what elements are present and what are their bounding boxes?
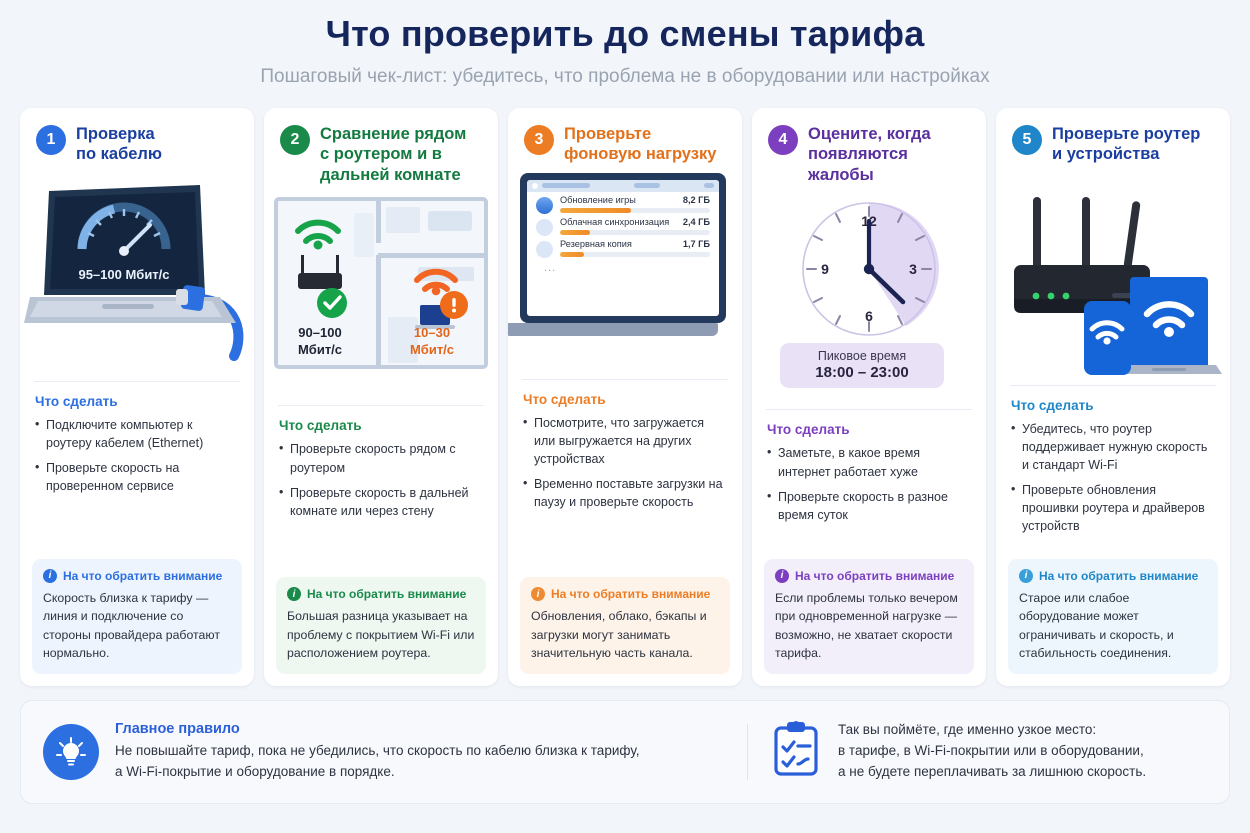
- card-4-illustration: 12 3 6 9 Пиковое время 18:00 – 23:00: [752, 199, 986, 395]
- todo-item: Посмотрите, что загружается или выгружае…: [523, 414, 727, 468]
- card-3-title: Проверьте фоновую нагрузку: [564, 124, 716, 165]
- todo-heading-3: Что сделать: [523, 392, 727, 407]
- note-heading-1: На что обратить внимание: [63, 569, 222, 583]
- card-4-title: Оцените, когда появляются жалобы: [808, 124, 970, 186]
- card-1-title: Проверка по кабелю: [76, 124, 162, 165]
- card-1-todo: Что сделать Подключите компьютер к роуте…: [20, 382, 254, 503]
- todo-item: Проверьте скорость на проверенном сервис…: [35, 459, 239, 495]
- todo-item: Убедитесь, что роутер поддерживает нужну…: [1011, 420, 1215, 474]
- info-icon: i: [1019, 569, 1033, 583]
- checklist-cards: 1 Проверка по кабелю: [20, 108, 1230, 686]
- card-5-illustration: [996, 175, 1230, 375]
- card-4-header: 4 Оцените, когда появляются жалобы: [752, 108, 986, 186]
- info-icon: i: [43, 569, 57, 583]
- footer-summary: Главное правило Не повышайте тариф, пока…: [20, 700, 1230, 804]
- todo-item: Подключите компьютер к роутеру кабелем (…: [35, 416, 239, 452]
- card-4-note: i На что обратить внимание Если проблемы…: [764, 559, 974, 674]
- info-icon: i: [531, 587, 545, 601]
- card-3-header: 3 Проверьте фоновую нагрузку: [508, 108, 742, 165]
- card-2-header: 2 Сравнение рядом с роутером и в дальней…: [264, 108, 498, 186]
- card-step-5[interactable]: 5 Проверьте роутер и устройства: [996, 108, 1230, 686]
- download-progress-fill: [560, 208, 631, 213]
- download-item: Резервная копия 1,7 ГБ: [527, 236, 719, 258]
- clock-tick-9: 9: [821, 261, 829, 277]
- router-devices-wifi-icon: [996, 175, 1230, 375]
- card-1-header: 1 Проверка по кабелю: [20, 108, 254, 165]
- speed-value-label: 95–100 Мбит/с: [78, 267, 169, 282]
- cloud-icon: [536, 219, 553, 236]
- card-3-illustration: Обновление игры 8,2 ГБ: [508, 171, 742, 361]
- app-titlebar: [527, 180, 719, 192]
- download-name: Облачная синхронизация: [560, 217, 669, 227]
- near-speed-label: 90–100 Мбит/с: [278, 325, 362, 358]
- more-items-ellipsis: ...: [527, 258, 719, 274]
- header: Что проверить до смены тарифа Пошаговый …: [20, 0, 1230, 88]
- download-size: 8,2 ГБ: [679, 195, 710, 205]
- card-5-note: i На что обратить внимание Старое или сл…: [1008, 559, 1218, 674]
- infographic-page: Что проверить до смены тарифа Пошаговый …: [0, 0, 1250, 833]
- card-5-title: Проверьте роутер и устройства: [1052, 124, 1200, 165]
- step-number-badge-2: 2: [280, 125, 310, 155]
- step-number-badge-5: 5: [1012, 125, 1042, 155]
- download-progress-track: [560, 252, 710, 257]
- card-5-header: 5 Проверьте роутер и устройства: [996, 108, 1230, 165]
- card-2-title: Сравнение рядом с роутером и в дальней к…: [320, 124, 466, 186]
- note-heading-2: На что обратить внимание: [307, 587, 466, 601]
- card-5-todo: Что сделать Убедитесь, что роутер поддер…: [996, 386, 1230, 543]
- card-1-illustration: 95–100 Мбит/с: [20, 171, 254, 371]
- download-size: 1,7 ГБ: [679, 239, 710, 249]
- laptop-ethernet-icon: 95–100 Мбит/с: [20, 171, 254, 371]
- card-3-note: i На что обратить внимание Обновления, о…: [520, 577, 730, 673]
- info-icon: i: [287, 587, 301, 601]
- card-2-note: i На что обратить внимание Большая разни…: [276, 577, 486, 673]
- note-body-5: Старое или слабое оборудование может огр…: [1019, 589, 1207, 663]
- footer-right: Так вы поймёте, где именно узкое место: …: [748, 720, 1168, 783]
- peak-time-label: Пиковое время: [780, 349, 944, 363]
- todo-heading-1: Что сделать: [35, 394, 239, 409]
- footer-heading: Главное правило: [115, 721, 639, 737]
- todo-item: Заметьте, в какое время интернет работае…: [767, 444, 971, 480]
- note-body-4: Если проблемы только вечером при одновре…: [775, 589, 963, 663]
- note-heading-4: На что обратить внимание: [795, 569, 954, 583]
- footer-left-body: Не повышайте тариф, пока не убедились, ч…: [115, 741, 639, 783]
- todo-heading-2: Что сделать: [279, 418, 483, 433]
- laptop-download-manager-icon: Обновление игры 8,2 ГБ: [520, 173, 726, 323]
- clipboard-check-icon: [770, 720, 822, 783]
- peak-time-value: 18:00 – 23:00: [780, 364, 944, 381]
- card-step-1[interactable]: 1 Проверка по кабелю: [20, 108, 254, 686]
- page-title: Что проверить до смены тарифа: [20, 14, 1230, 54]
- todo-heading-5: Что сделать: [1011, 398, 1215, 413]
- card-step-4[interactable]: 4 Оцените, когда появляются жалобы: [752, 108, 986, 686]
- download-progress-track: [560, 230, 710, 235]
- footer-right-body: Так вы поймёте, где именно узкое место: …: [838, 720, 1146, 783]
- card-3-todo: Что сделать Посмотрите, что загружается …: [508, 380, 742, 519]
- far-speed-label: 10–30 Мбит/с: [390, 325, 474, 358]
- peak-time-pill: Пиковое время 18:00 – 23:00: [780, 343, 944, 388]
- analog-clock-icon: 12 3 6 9: [752, 199, 986, 349]
- page-subtitle: Пошаговый чек-лист: убедитесь, что пробл…: [20, 66, 1230, 88]
- laptop-base: [508, 323, 718, 336]
- clock-tick-3: 3: [909, 261, 917, 277]
- card-step-2[interactable]: 2 Сравнение рядом с роутером и в дальней…: [264, 108, 498, 686]
- todo-item: Проверьте скорость рядом с роутером: [279, 440, 483, 476]
- download-item: Облачная синхронизация 2,4 ГБ: [527, 214, 719, 236]
- step-number-badge-1: 1: [36, 125, 66, 155]
- info-icon: i: [775, 569, 789, 583]
- todo-item: Проверьте скорость в дальней комнате или…: [279, 484, 483, 520]
- download-size: 2,4 ГБ: [679, 217, 710, 227]
- todo-item: Проверьте скорость в разное время суток: [767, 488, 971, 524]
- card-2-todo: Что сделать Проверьте скорость рядом с р…: [264, 406, 498, 527]
- download-item: Обновление игры 8,2 ГБ: [527, 192, 719, 214]
- backup-icon: [536, 241, 553, 258]
- download-progress-track: [560, 208, 710, 213]
- lightbulb-icon: [43, 724, 99, 780]
- download-progress-fill: [560, 252, 584, 257]
- card-2-illustration: 90–100 Мбит/с 10–30 Мбит/с: [264, 197, 498, 373]
- card-1-note: i На что обратить внимание Скорость близ…: [32, 559, 242, 674]
- note-body-2: Большая разница указывает на проблему с …: [287, 607, 475, 662]
- note-body-3: Обновления, облако, бэкапы и загрузки мо…: [531, 607, 719, 662]
- note-heading-3: На что обратить внимание: [551, 587, 710, 601]
- clock-tick-6: 6: [865, 308, 873, 324]
- step-number-badge-3: 3: [524, 125, 554, 155]
- card-step-3[interactable]: 3 Проверьте фоновую нагрузку: [508, 108, 742, 686]
- download-name: Резервная копия: [560, 239, 632, 249]
- todo-item: Проверьте обновления прошивки роутера и …: [1011, 481, 1215, 535]
- step-number-badge-4: 4: [768, 125, 798, 155]
- note-heading-5: На что обратить внимание: [1039, 569, 1198, 583]
- footer-left: Главное правило Не повышайте тариф, пока…: [21, 721, 747, 783]
- download-name: Обновление игры: [560, 195, 636, 205]
- todo-item: Временно поставьте загрузки на паузу и п…: [523, 475, 727, 511]
- note-body-1: Скорость близка к тарифу — линия и подкл…: [43, 589, 231, 663]
- download-progress-fill: [560, 230, 590, 235]
- card-4-todo: Что сделать Заметьте, в какое время инте…: [752, 410, 986, 531]
- todo-heading-4: Что сделать: [767, 422, 971, 437]
- download-arrow-icon: [536, 197, 553, 214]
